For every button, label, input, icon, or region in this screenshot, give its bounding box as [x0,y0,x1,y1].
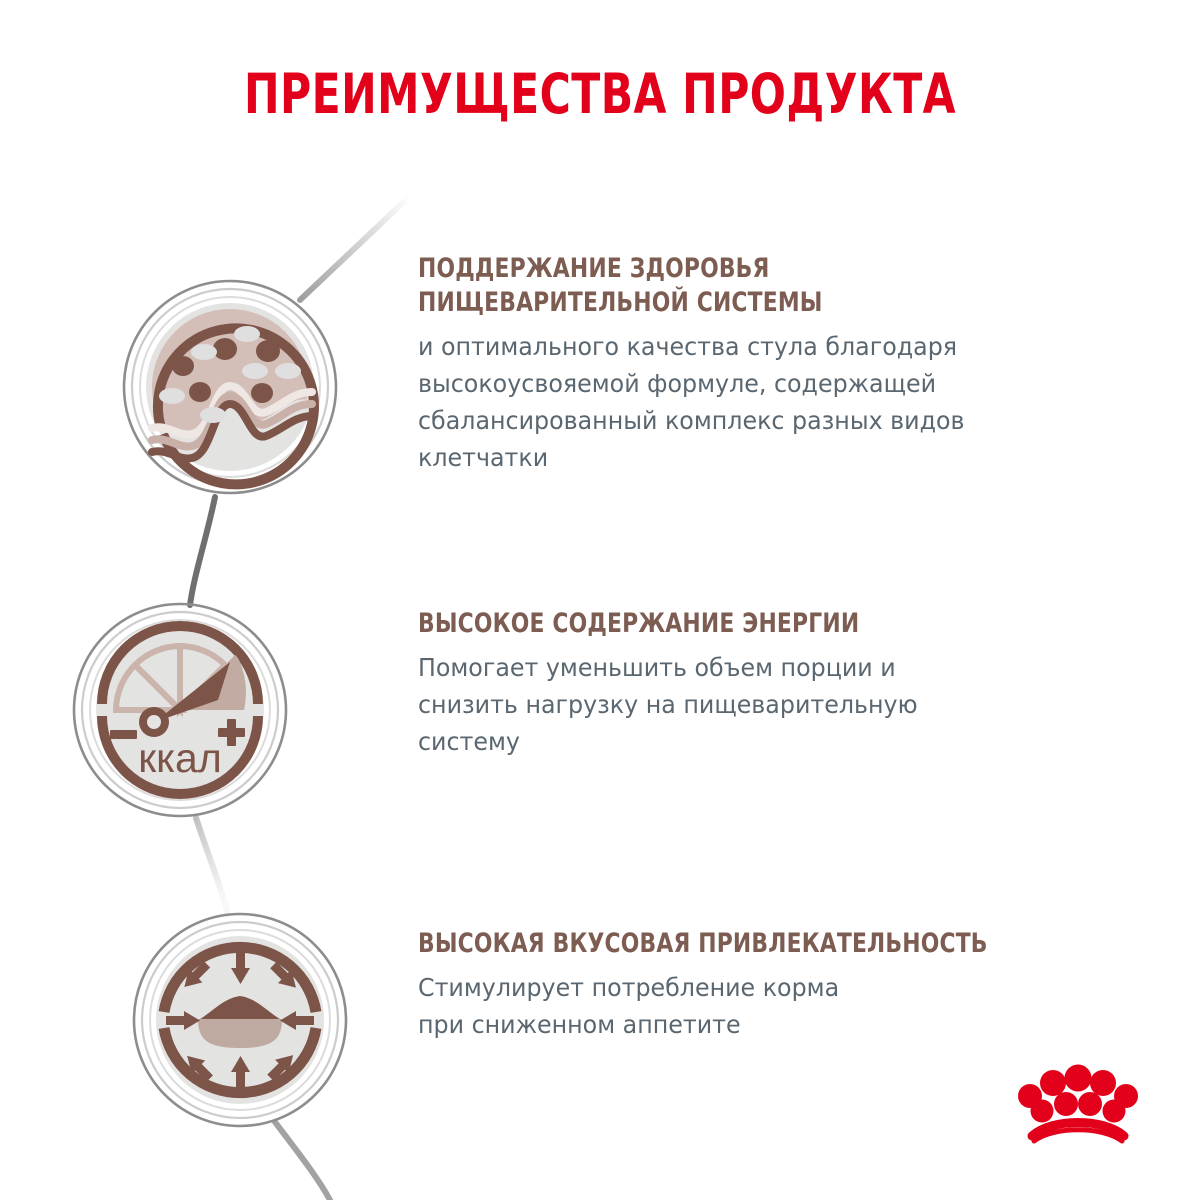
icon-badge-palatability [134,914,346,1126]
icon-badge-high-energy: ккал [74,604,286,816]
gauge-plus-icon-v [227,719,236,746]
benefit-heading-high-energy: ВЫСОКОЕ СОДЕРЖАНИЕ ЭНЕРГИИ [418,607,1048,641]
gauge-minus-icon [110,730,137,739]
connector-top-stub [300,196,410,300]
benefit-body-high-energy: Помогает уменьшить объем порции и снизит… [418,649,1083,760]
crown-dot-top-4 [1090,1070,1116,1096]
benefit-body-digestive-health: и оптимального качества стула благодаря … [418,328,1102,476]
crown-dot-mid-1 [1031,1100,1054,1123]
benefit-heading-palatability: ВЫСОКАЯ ВКУСОВАЯ ПРИВЛЕКАТЕЛЬНОСТЬ [418,927,1048,961]
royal-canin-crown-logo [1012,1056,1144,1144]
crown-dot-top-2 [1040,1070,1066,1096]
calorie-gauge-icon: ккал [102,626,258,794]
gauge-kcal-label: ккал [138,735,222,781]
crown-dots [1018,1065,1138,1123]
crown-dot-mid-3 [1078,1092,1102,1116]
food-bowl-attraction-icon [164,947,316,1092]
connector-icon1-icon2 [190,497,215,605]
connector-bottom-stub [275,1122,330,1200]
crown-dot-top-3 [1065,1065,1092,1092]
benefit-block-digestive-health: ПОДДЕРЖАНИЕ ЗДОРОВЬЯ ПИЩЕВАРИТЕЛЬНОЙ СИС… [418,252,1138,476]
icon-badge-digestive-health [124,281,336,493]
crown-dot-mid-4 [1103,1100,1126,1123]
benefit-block-palatability: ВЫСОКАЯ ВКУСОВАЯ ПРИВЛЕКАТЕЛЬНОСТЬ Стиму… [418,927,1118,1043]
benefit-heading-digestive-health: ПОДДЕРЖАНИЕ ЗДОРОВЬЯ ПИЩЕВАРИТЕЛЬНОЙ СИС… [418,252,1066,320]
connector-icon2-icon3 [196,818,228,915]
benefit-body-palatability: Стимулирует потребление корма при снижен… [418,969,1083,1043]
crown-dot-mid-2 [1054,1092,1078,1116]
product-benefits-page: ПРЕИМУЩЕСТВА ПРОДУКТА [0,0,1200,1200]
gauge-needle-hub-center [147,715,161,729]
benefit-block-high-energy: ВЫСОКОЕ СОДЕРЖАНИЕ ЭНЕРГИИ Помогает умен… [418,607,1118,760]
